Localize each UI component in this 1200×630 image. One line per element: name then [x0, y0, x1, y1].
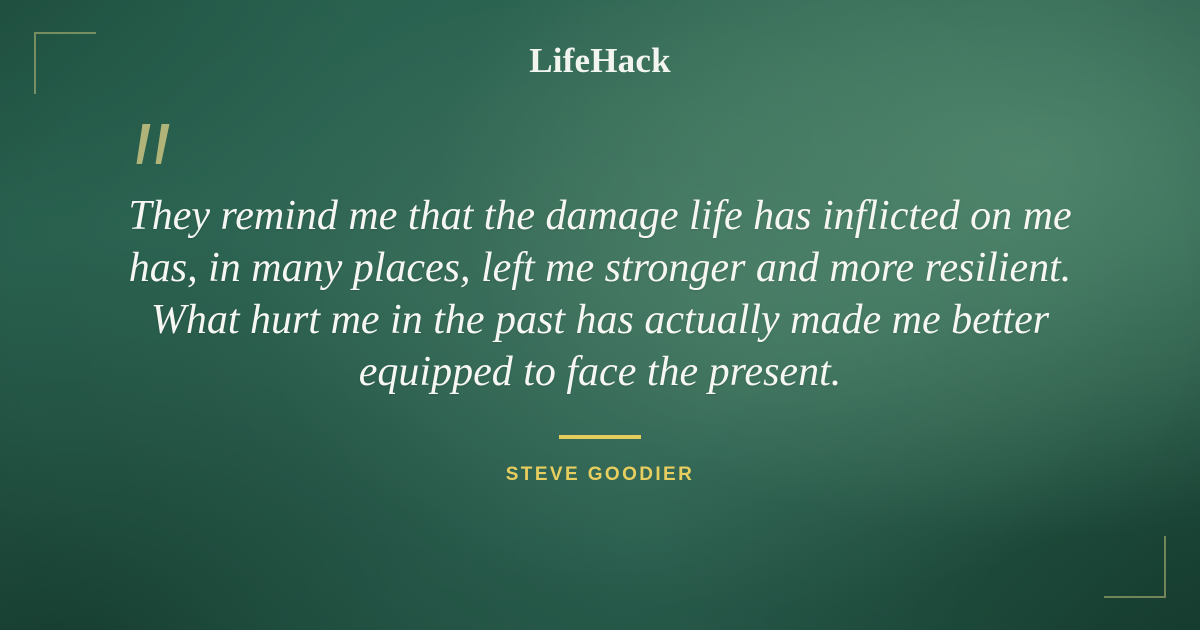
attribution-divider [559, 435, 641, 439]
brand-logo: LifeHack [0, 41, 1200, 81]
quote-line: What hurt me in the past has actually ma… [110, 294, 1090, 346]
quote-line: They remind me that the damage life has … [110, 190, 1090, 242]
quote-line: equipped to face the present. [110, 346, 1090, 398]
quote-author: STEVE GOODIER [0, 464, 1200, 486]
corner-bracket-bottom-right-icon [1104, 536, 1166, 598]
quote-line: has, in many places, left me stronger an… [110, 242, 1090, 294]
quote-card: LifeHack They remind me that the damage … [0, 0, 1200, 630]
quote-text-block: They remind me that the damage life has … [110, 190, 1090, 398]
double-prime-quote-icon [128, 122, 180, 168]
